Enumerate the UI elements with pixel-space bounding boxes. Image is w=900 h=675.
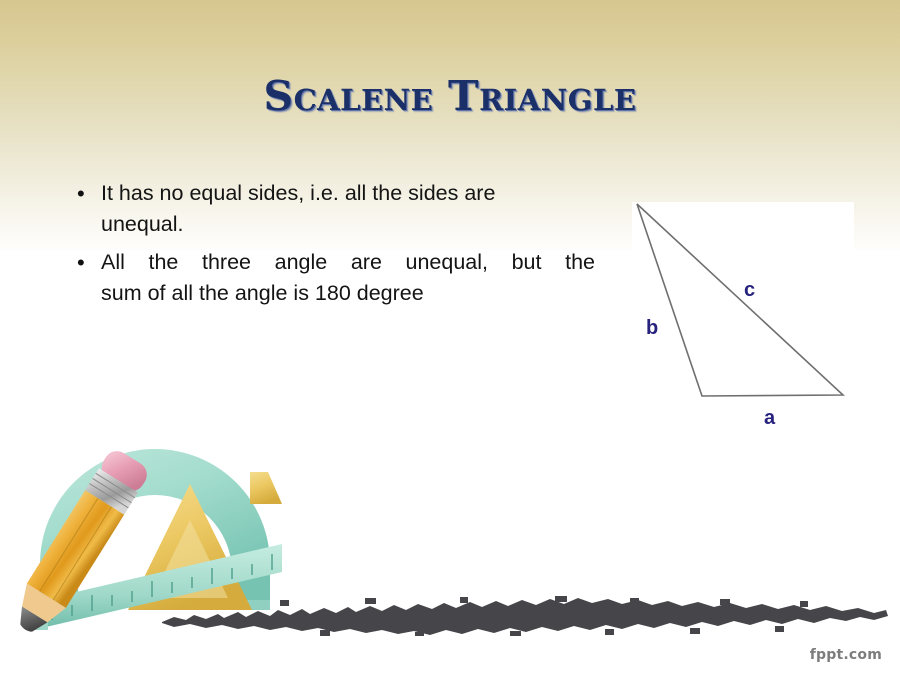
charcoal-stroke (160, 596, 890, 636)
bullet-list: • It has no equal sides, i.e. all the si… (70, 178, 595, 316)
bullet-marker-icon: • (70, 178, 101, 209)
triangle-label-b: b (646, 318, 658, 338)
scalene-triangle-diagram (620, 190, 880, 430)
set-square-secondary-icon (250, 472, 282, 504)
list-item-line: unequal. (101, 209, 595, 240)
list-item-line: sum of all the angle is 180 degree (101, 278, 595, 309)
triangle-label-a: a (764, 408, 775, 428)
list-item-text: It has no equal sides, i.e. all the side… (101, 178, 595, 240)
list-item: • All the three angle are unequal, but t… (70, 247, 595, 309)
triangle-shape (637, 204, 843, 396)
page-title: Scalene Triangle (0, 72, 900, 120)
slide-canvas: Scalene Triangle • It has no equal sides… (0, 0, 900, 675)
triangle-label-c: c (744, 280, 755, 300)
list-item: • It has no equal sides, i.e. all the si… (70, 178, 595, 240)
bullet-marker-icon: • (70, 247, 101, 278)
list-item-line: It has no equal sides, i.e. all the side… (101, 178, 595, 209)
list-item-text: All the three angle are unequal, but the… (101, 247, 595, 309)
watermark-label: fppt.com (810, 647, 882, 663)
list-item-line: All the three angle are unequal, but the (101, 247, 595, 278)
